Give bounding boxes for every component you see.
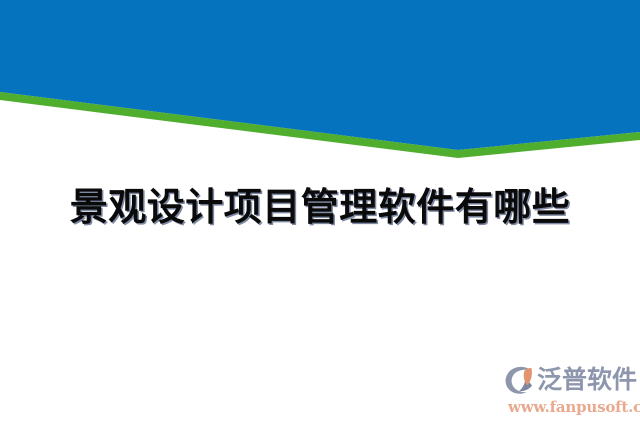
brand-name: 泛普软件 [537, 366, 637, 394]
brand-logo-row: 泛普软件 [504, 362, 637, 398]
banner-blue-shape [0, 0, 640, 150]
slide-canvas: 景观设计项目管理软件有哪些 泛普软件 www.fanpusoft.com [0, 0, 640, 427]
fanpu-swoosh-logo-icon [504, 364, 538, 396]
title-block: 景观设计项目管理软件有哪些 [0, 183, 640, 231]
brand-watermark: 泛普软件 www.fanpusoft.com [504, 362, 638, 420]
brand-url: www.fanpusoft.com [508, 398, 640, 416]
header-banner [0, 0, 640, 175]
page-title: 景观设计项目管理软件有哪些 [70, 183, 571, 231]
header-banner-graphic [0, 0, 640, 175]
